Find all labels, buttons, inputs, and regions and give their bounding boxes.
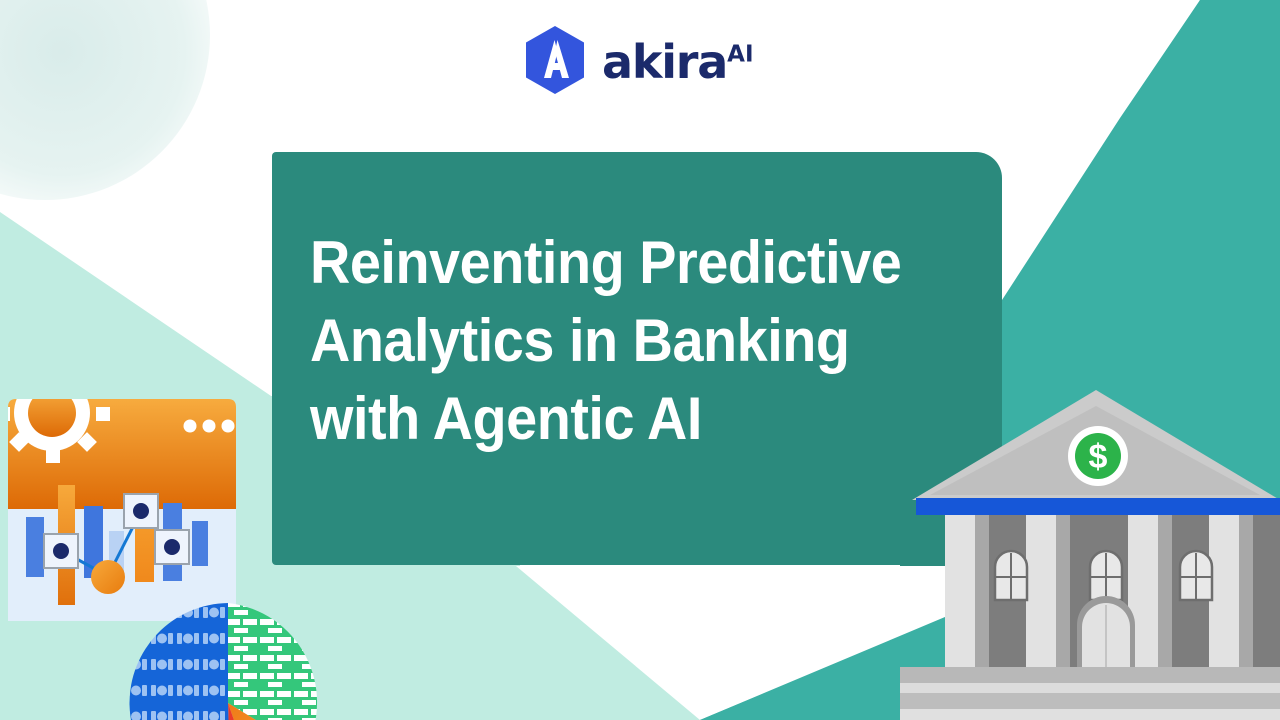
poster-canvas: akiraAI Reinventing Predictive Analytics… <box>0 0 1280 720</box>
dollar-badge-icon: $ <box>1068 426 1128 486</box>
window-dot <box>184 420 197 433</box>
bank-step <box>900 693 1280 709</box>
bank-window <box>1180 551 1212 600</box>
bank-step <box>900 709 1280 720</box>
arched-door-icon <box>1077 596 1135 667</box>
data-point-circle <box>91 560 125 594</box>
bank-blue-band <box>916 498 1280 515</box>
data-point-marker <box>124 494 158 528</box>
brand-name: akira <box>602 35 727 89</box>
data-point-marker <box>44 534 78 568</box>
hero-title-card: Reinventing Predictive Analytics in Bank… <box>272 152 1002 565</box>
pie-chart-illustration <box>123 598 333 720</box>
akira-hexagon-logo-icon <box>520 24 590 96</box>
brand-logo[interactable]: akiraAI <box>520 24 754 96</box>
chart-bar <box>26 517 44 577</box>
bank-building-illustration: $ <box>900 378 1280 720</box>
brand-superscript: AI <box>727 42 753 68</box>
svg-text:$: $ <box>1089 438 1108 476</box>
data-point-marker <box>155 530 189 564</box>
bank-window <box>1090 551 1122 600</box>
pie-slice-green <box>228 603 317 720</box>
brand-wordmark: akiraAI <box>602 39 754 85</box>
analytics-dashboard-illustration <box>8 399 236 621</box>
chart-bar <box>192 521 208 566</box>
page-title: Reinventing Predictive Analytics in Bank… <box>310 224 933 458</box>
bank-step <box>900 683 1280 693</box>
window-dot <box>222 420 235 433</box>
mint-triangle-left <box>0 212 274 398</box>
bank-window <box>995 551 1027 600</box>
pie-slice-blue <box>129 603 231 720</box>
window-dot <box>203 420 216 433</box>
bank-step <box>900 667 1280 683</box>
